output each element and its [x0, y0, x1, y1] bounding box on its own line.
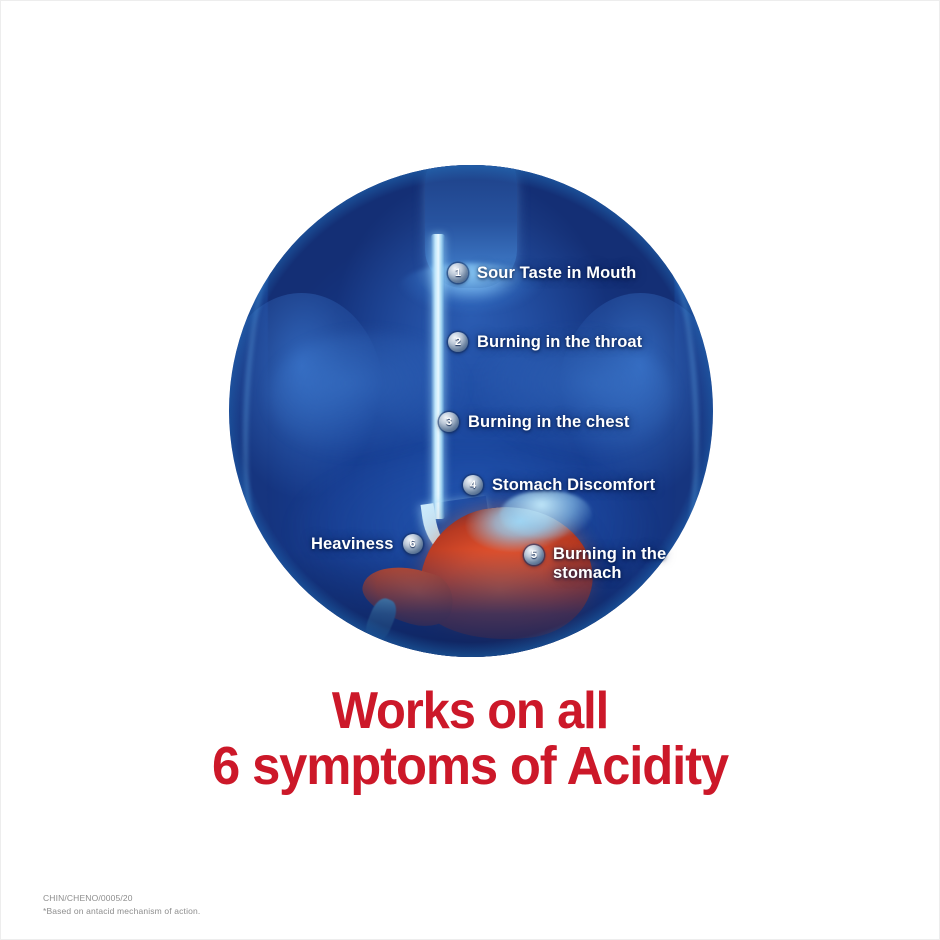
symptom-number-badge-4: 4 [463, 475, 483, 495]
symptom-callout-3[interactable]: 3 Burning in the chest [439, 412, 630, 432]
symptom-callout-4[interactable]: 4 Stomach Discomfort [463, 475, 655, 495]
symptom-number-badge-2: 2 [448, 332, 468, 352]
symptom-label-1: Sour Taste in Mouth [477, 264, 636, 282]
symptom-callout-1[interactable]: 1 Sour Taste in Mouth [448, 263, 636, 283]
stomach-fundus-highlight [500, 490, 592, 539]
symptom-callout-2[interactable]: 2 Burning in the throat [448, 332, 642, 352]
symptom-label-4: Stomach Discomfort [492, 476, 655, 494]
symptom-callout-5[interactable]: 5 Burning in the stomach [524, 545, 683, 584]
symptom-number-badge-1: 1 [448, 263, 468, 283]
esophagus-tube [431, 234, 445, 519]
footer-code: CHIN/CHENO/0005/20 [43, 892, 200, 904]
headline-line-2: 6 symptoms of Acidity [29, 738, 911, 794]
symptom-number-badge-3: 3 [439, 412, 459, 432]
footer: CHIN/CHENO/0005/20 *Based on antacid mec… [43, 892, 200, 917]
symptom-label-6: Heaviness [311, 535, 394, 553]
symptom-number-badge-5: 5 [524, 545, 544, 565]
poster-canvas: 1 Sour Taste in Mouth 2 Burning in the t… [0, 0, 940, 940]
headline-line-1: Works on all [29, 684, 911, 738]
headline: Works on all 6 symptoms of Acidity [29, 684, 911, 794]
footer-disclaimer: *Based on antacid mechanism of action. [43, 905, 200, 917]
symptom-label-3: Burning in the chest [468, 413, 630, 431]
symptom-number-badge-6: 6 [403, 534, 423, 554]
symptom-label-2: Burning in the throat [477, 333, 642, 351]
symptom-callout-6[interactable]: Heaviness 6 [311, 534, 423, 554]
symptom-label-5: Burning in the stomach [553, 545, 683, 584]
